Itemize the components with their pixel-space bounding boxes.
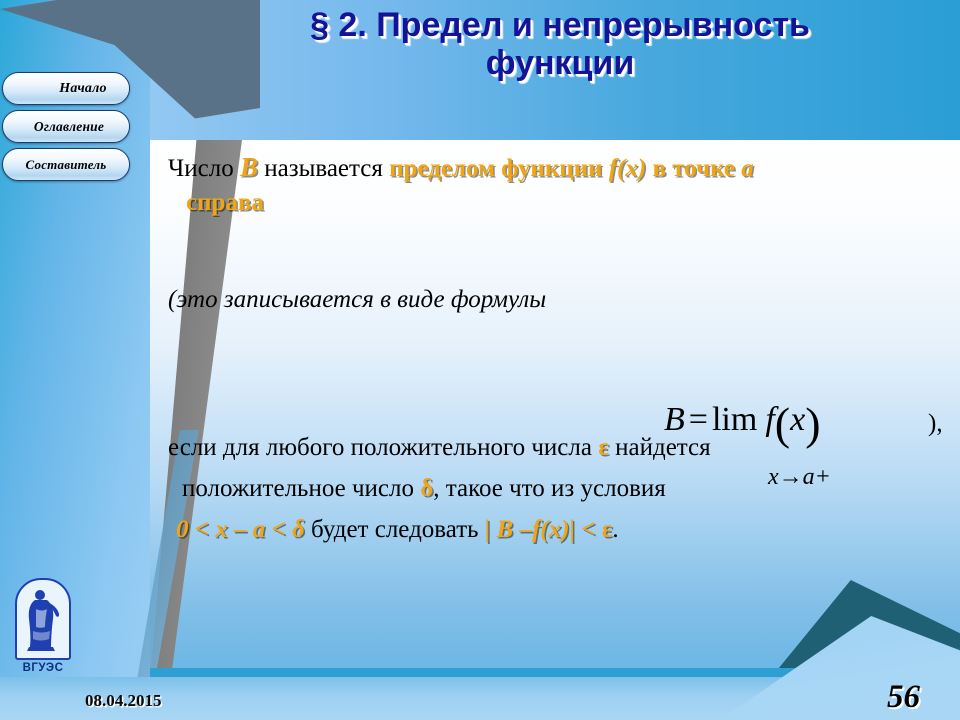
- definition-lead: Число: [168, 155, 240, 182]
- formula-equals: =: [685, 401, 712, 438]
- term-at-point: в точке: [646, 155, 741, 182]
- condition-inequality: 0 < x – a < δ: [176, 516, 305, 543]
- term-limit-of-function: пределом функции: [389, 155, 609, 182]
- epsilon-delta-line-2: положительное число δ, такое что из усло…: [168, 475, 953, 503]
- formula-x: x: [790, 401, 805, 438]
- definition-mid: называется: [258, 155, 389, 182]
- epsilon-delta-line-1: если для любого положительного числа ε н…: [168, 434, 953, 462]
- sidebar-nav: Начало Оглавление Составитель: [2, 72, 134, 186]
- formula-f: f: [757, 401, 774, 438]
- term-from-the-right: справа: [168, 189, 953, 217]
- formula-lead-text: (это записывается в виде формулы: [168, 286, 546, 313]
- formula-paragraph: (это записывается в виде формулы B=limf(…: [168, 286, 953, 314]
- definition-paragraph: Число B называется пределом функции f(x)…: [168, 152, 953, 217]
- sidebar-item-contents[interactable]: Оглавление: [2, 110, 130, 143]
- sidebar-item-author[interactable]: Составитель: [2, 148, 130, 181]
- slide-body: Число B называется пределом функции f(x)…: [168, 152, 953, 572]
- variable-b: B: [240, 152, 258, 182]
- statue-figure-icon: [23, 587, 63, 653]
- sidebar-item-contents-label: Оглавление: [28, 119, 104, 135]
- symbol-delta: δ: [420, 475, 433, 502]
- page-title-line-1: § 2. Предел и непрерывность: [170, 6, 950, 44]
- symbol-epsilon-final: ε: [602, 516, 613, 543]
- eps-line2-b: , такое что из условия: [433, 475, 666, 502]
- sidebar-item-home-label: Начало: [25, 81, 106, 97]
- term-a: a: [741, 155, 754, 182]
- term-fx: f(x): [609, 155, 646, 182]
- definition-line-1: Число B называется пределом функции f(x)…: [168, 152, 953, 183]
- epsilon-delta-line-3: 0 < x – a < δ будет следовать | B –f(x)|…: [168, 516, 953, 544]
- sidebar-item-author-label: Составитель: [26, 157, 107, 173]
- university-logo: ВГУЭС: [12, 578, 74, 674]
- eps-line3-mid: будет следовать: [305, 516, 485, 543]
- eps-line2-a: положительное число: [182, 475, 420, 502]
- formula-lhs: B: [664, 401, 685, 438]
- slide-date: 08.04.2015: [85, 691, 162, 711]
- eps-line3-lt: <: [575, 516, 602, 543]
- formula-lim: lim: [712, 401, 757, 438]
- slide-page-number: 56: [887, 679, 920, 716]
- sidebar-item-home[interactable]: Начало: [2, 72, 130, 105]
- page-title: § 2. Предел и непрерывность функции: [170, 6, 950, 82]
- slide-canvas: § 2. Предел и непрерывность функции Нача…: [0, 0, 960, 720]
- absolute-value-expression: | B –f(x)|: [485, 516, 575, 543]
- logo-text: ВГУЭС: [12, 662, 74, 674]
- eps-line1-a: если для любого положительного числа: [168, 434, 598, 461]
- eps-line3-dot: .: [612, 516, 618, 543]
- arch-figure-icon: [15, 578, 71, 660]
- eps-line1-b: найдется: [609, 434, 711, 461]
- epsilon-delta-paragraph: если для любого положительного числа ε н…: [168, 434, 953, 557]
- page-title-line-2: функции: [170, 44, 950, 82]
- symbol-epsilon: ε: [598, 434, 609, 461]
